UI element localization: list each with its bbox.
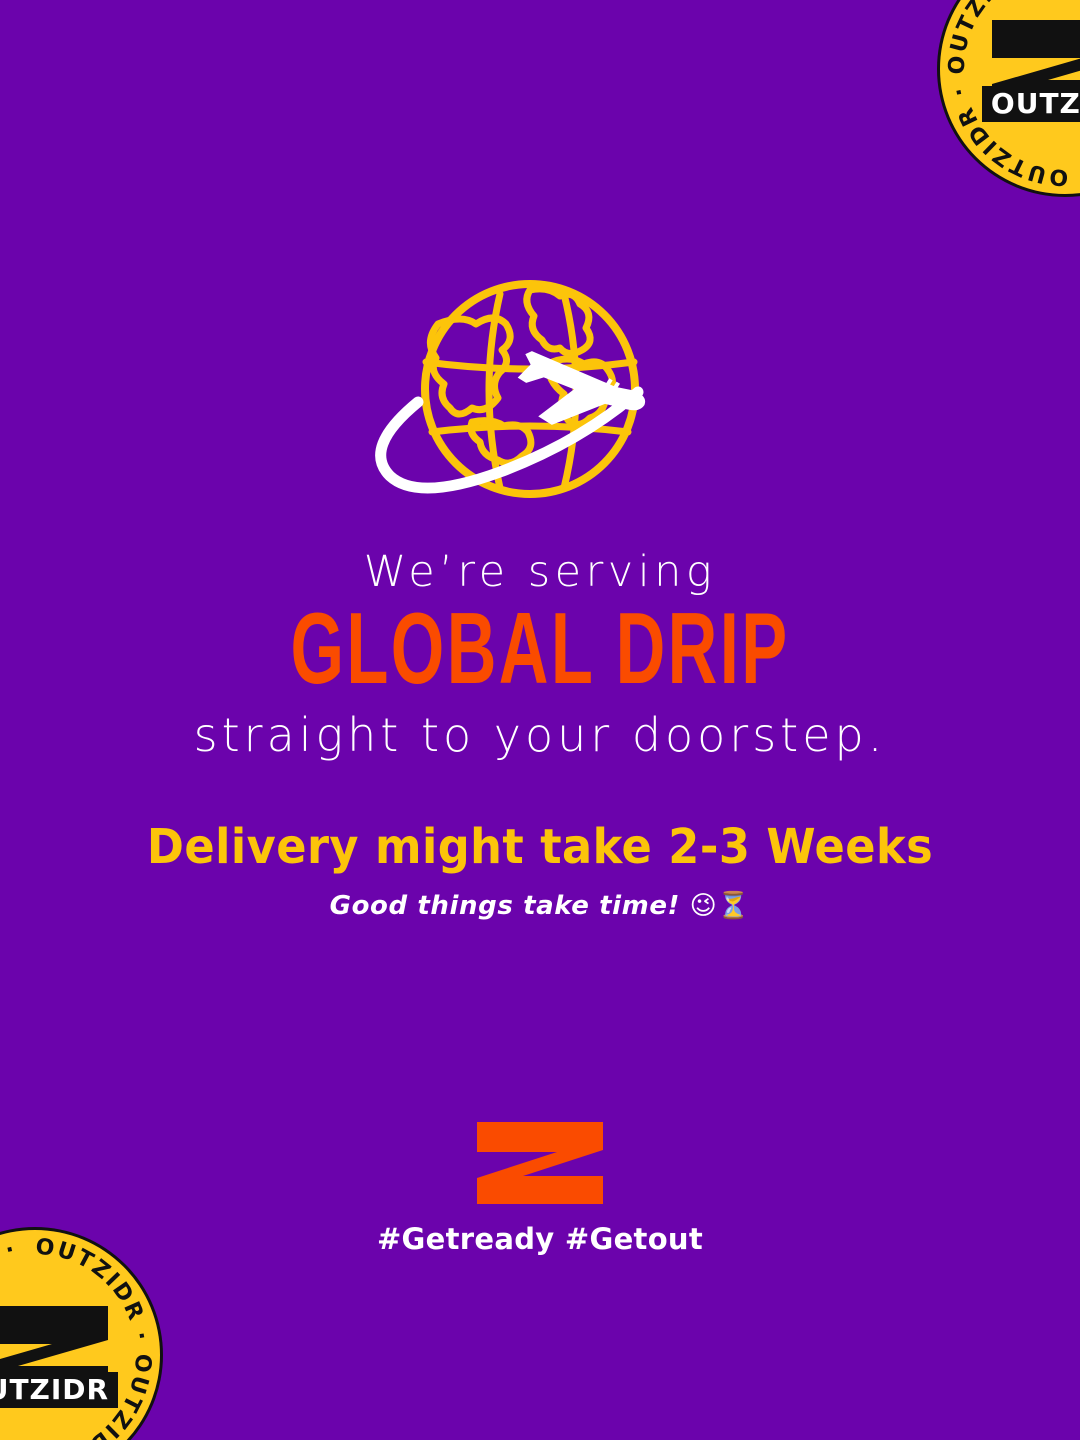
globe-airplane-icon <box>352 272 718 520</box>
headline-line-global-drip: GLOBAL DRIP <box>108 598 972 699</box>
z-mark-path <box>477 1122 603 1204</box>
delivery-subtext: Good things take time! 😉⏳ <box>0 891 1080 922</box>
badge-inner-wordmark: OUTZIDR <box>982 86 1080 122</box>
poster-canvas: OUTZIDR · OUTZIDR · OUTZIDR · OUTZIDR · … <box>0 0 1080 1440</box>
headline-block: We’re serving GLOBAL DRIP straight to yo… <box>0 548 1080 761</box>
svg-text:OUTZIDR: OUTZIDR <box>991 87 1080 120</box>
wink-hourglass-emoji: 😉⏳ <box>690 891 751 921</box>
footer-hashtags: #Getready #Getout <box>0 1222 1080 1256</box>
continent-eurasia-north <box>527 289 590 354</box>
delivery-notice-block: Delivery might take 2-3 Weeks Good thing… <box>0 820 1080 922</box>
svg-text:OUTZIDR: OUTZIDR <box>0 1373 109 1406</box>
headline-line-doorstep: straight to your doorstep. <box>0 710 1080 761</box>
badge-inner-wordmark: OUTZIDR <box>0 1372 118 1408</box>
outzidr-z-logo <box>477 1122 603 1204</box>
orbit-swoosh <box>381 392 638 488</box>
delivery-subtext-label: Good things take time! <box>330 891 680 921</box>
outzidr-badge-top-right: OUTZIDR · OUTZIDR · OUTZIDR · OUTZIDR · … <box>930 0 1080 204</box>
headline-line-serving: We’re serving <box>0 548 1080 596</box>
footer-block: #Getready #Getout <box>0 1122 1080 1256</box>
delivery-timeframe-text: Delivery might take 2-3 Weeks <box>38 820 1042 875</box>
